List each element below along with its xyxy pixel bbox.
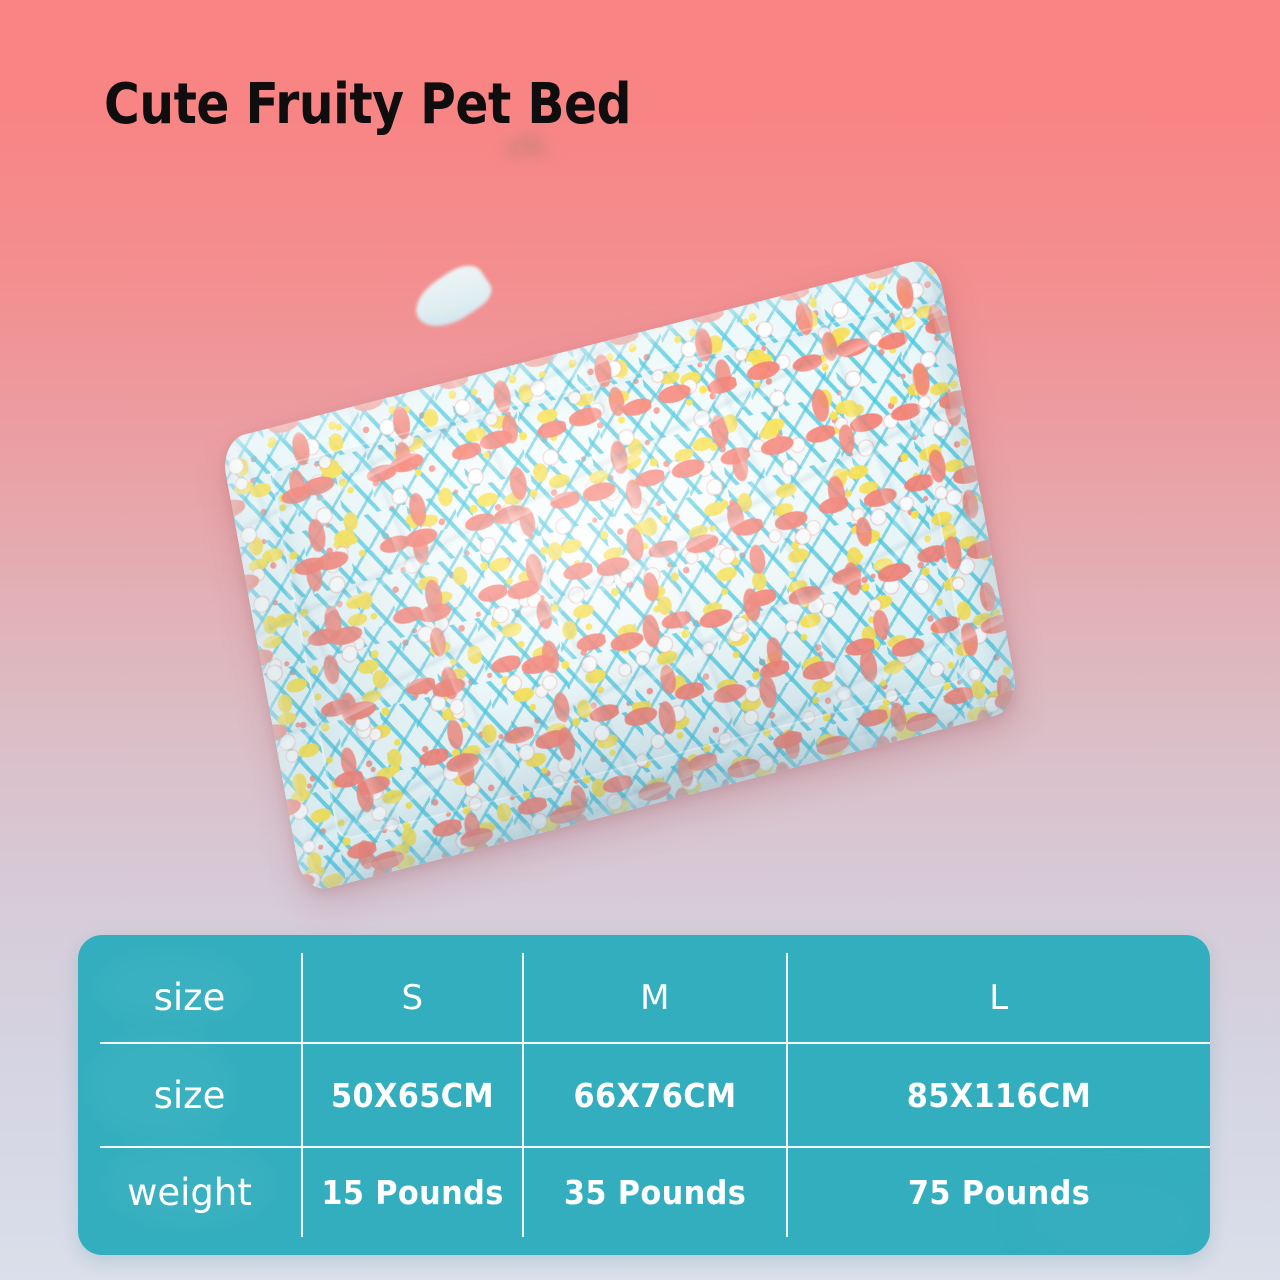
pet-bed-mat	[220, 256, 1020, 895]
page-title: Cute Fruity Pet Bed	[104, 68, 631, 142]
table-cell-size-m: 66X76CM	[534, 1044, 775, 1146]
table-cell-weight-l: 75 Pounds	[805, 1148, 1193, 1237]
table-header-label: size	[78, 953, 301, 1042]
bed-lifted-corner	[407, 257, 497, 339]
pet-bed-photo	[165, 265, 1075, 885]
table-row-label-weight: weight	[78, 1148, 301, 1237]
size-spec-table: size S M L size 50X65CM 66X76CM 85X116CM…	[78, 935, 1210, 1255]
bed-bolster-rim	[220, 256, 1020, 895]
table-cell-weight-s: 15 Pounds	[312, 1148, 513, 1237]
table-cell-size-l: 85X116CM	[805, 1044, 1193, 1146]
product-detail-page: Cute Fruity Pet Bed size S M L	[0, 0, 1280, 1280]
table-row-label-size: size	[78, 1044, 301, 1146]
table-cell-size-s: 50X65CM	[312, 1044, 513, 1146]
table-header-size-m: M	[524, 953, 786, 1042]
table-header-size-l: L	[788, 953, 1210, 1042]
table-header-size-s: S	[303, 953, 522, 1042]
table-cell-weight-m: 35 Pounds	[534, 1148, 775, 1237]
background-smudge-mark-secondary	[524, 141, 552, 160]
